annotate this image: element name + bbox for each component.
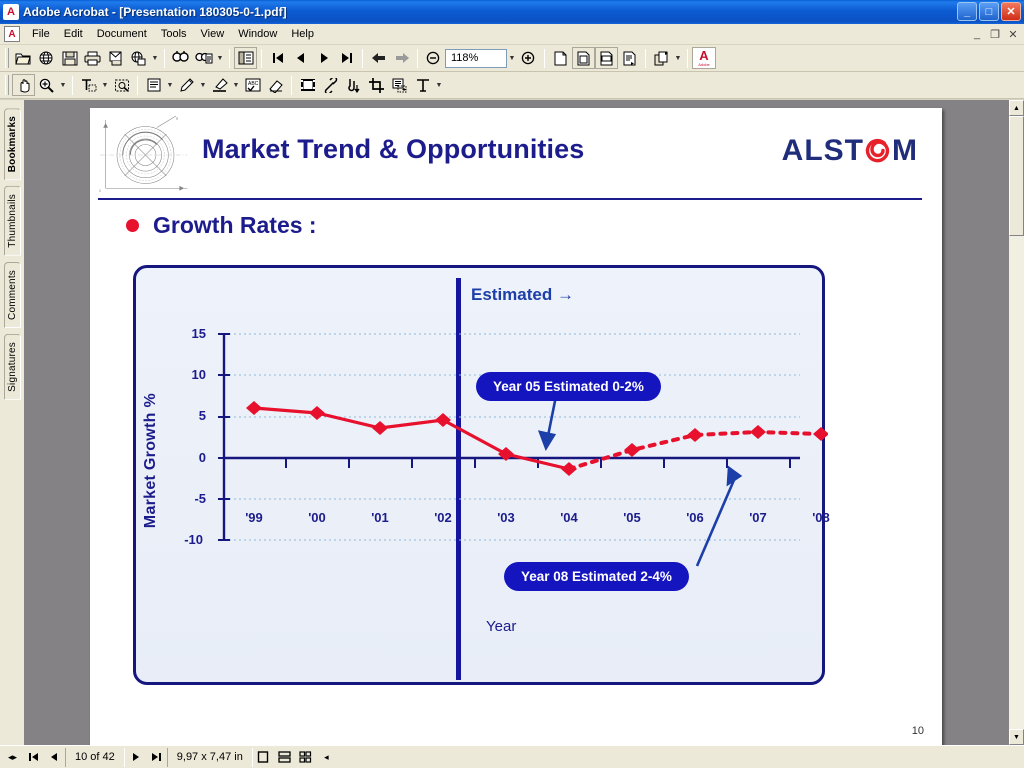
show-hide-navigation-icon[interactable] <box>234 47 257 69</box>
scroll-thumb[interactable] <box>1009 116 1024 236</box>
open-icon[interactable] <box>12 47 35 69</box>
acrobat-icon: A <box>3 4 19 20</box>
previous-page-icon[interactable] <box>44 748 65 767</box>
scroll-track[interactable] <box>1009 236 1024 729</box>
reflow-icon[interactable] <box>618 47 641 69</box>
previous-page-icon[interactable] <box>289 47 312 69</box>
scroll-down-button[interactable]: ▼ <box>1009 729 1024 745</box>
chevron-down-icon[interactable]: ▼ <box>198 82 208 89</box>
movie-tool-icon[interactable] <box>296 74 319 96</box>
first-page-icon[interactable] <box>266 47 289 69</box>
chevron-down-icon[interactable]: ▼ <box>673 55 683 62</box>
link-tool-icon[interactable] <box>319 74 342 96</box>
sidebar-item-thumbnails[interactable]: Thumbnails <box>4 186 21 256</box>
toolbar-separator <box>645 49 646 68</box>
zoom-out-icon[interactable] <box>422 47 445 69</box>
vertical-scrollbar[interactable]: ▲ ▼ <box>1008 100 1024 745</box>
toolbar-separator <box>261 49 262 68</box>
facing-pages-icon[interactable] <box>295 748 316 767</box>
minimize-button[interactable]: _ <box>957 2 977 21</box>
mdi-close-button[interactable]: ✕ <box>1006 28 1020 41</box>
navigation-pane: Bookmarks Thumbnails Comments Signatures <box>0 100 25 745</box>
graphics-select-icon[interactable] <box>110 74 133 96</box>
bullet-label: Growth Rates : <box>153 212 317 239</box>
sound-tool-icon[interactable] <box>342 74 365 96</box>
chevron-down-icon[interactable]: ▼ <box>58 82 68 89</box>
main-area: Bookmarks Thumbnails Comments Signatures <box>0 100 1024 745</box>
go-back-icon[interactable] <box>367 47 390 69</box>
pdf-page: 0 R Market Trend & Opportunities ALST M <box>90 108 942 745</box>
go-forward-icon[interactable] <box>390 47 413 69</box>
document-icon: A <box>4 26 20 42</box>
resize-pane-handle[interactable]: ◂▸ <box>2 748 23 767</box>
callout-year-05: Year 05 Estimated 0-2% <box>476 372 661 401</box>
mdi-restore-button[interactable]: ❐ <box>988 28 1002 41</box>
rotate-view-icon[interactable] <box>650 47 673 69</box>
document-area[interactable]: 0 R Market Trend & Opportunities ALST M <box>25 100 1008 745</box>
page-indicator[interactable]: 10 of 42 <box>65 748 125 767</box>
alstom-spiral-icon <box>864 136 892 166</box>
horizontal-scroll-left-button[interactable]: ◂ <box>316 748 337 767</box>
window-controls: _ □ ✕ <box>957 2 1021 21</box>
zoom-tool-icon[interactable] <box>35 74 58 96</box>
save-icon[interactable] <box>58 47 81 69</box>
chevron-down-icon[interactable]: ▼ <box>100 82 110 89</box>
fit-page-icon[interactable] <box>572 47 595 69</box>
chevron-down-icon[interactable]: ▼ <box>215 55 225 62</box>
toolbar-separator <box>229 49 230 68</box>
fit-width-icon[interactable] <box>595 47 618 69</box>
email-icon[interactable] <box>104 47 127 69</box>
alstom-logo: ALST M <box>782 134 918 168</box>
print-icon[interactable] <box>81 47 104 69</box>
first-page-icon[interactable] <box>23 748 44 767</box>
page-navigation-group <box>23 748 65 767</box>
menu-bar: A File Edit Document Tools View Window H… <box>0 24 1024 45</box>
window-title-bar: A Adobe Acrobat - [Presentation 180305-0… <box>0 0 1024 24</box>
window-title: Adobe Acrobat - [Presentation 180305-0-1… <box>23 5 287 19</box>
chart-panel: Estimated → Market Growth % 15 10 5 0 -5… <box>133 265 825 685</box>
highlight-tool-icon[interactable] <box>208 74 231 96</box>
next-page-icon[interactable] <box>312 47 335 69</box>
mdi-window-controls: _ ❐ ✕ <box>970 28 1020 41</box>
last-page-icon[interactable] <box>146 748 167 767</box>
growth-rate-line-chart <box>136 268 828 688</box>
eraser-icon[interactable] <box>264 74 287 96</box>
search-web-icon[interactable] <box>127 47 150 69</box>
crop-tool-icon[interactable] <box>365 74 388 96</box>
last-page-icon[interactable] <box>335 47 358 69</box>
zoom-in-icon[interactable] <box>517 47 540 69</box>
single-page-icon[interactable] <box>253 748 274 767</box>
page-size-indicator: 9,97 x 7,47 in <box>167 748 253 767</box>
view-mode-group <box>253 748 316 767</box>
toolbar-separator <box>72 76 73 95</box>
spell-check-icon[interactable]: ABC <box>241 74 264 96</box>
search-icon[interactable] <box>192 47 215 69</box>
mdi-minimize-button[interactable]: _ <box>970 28 984 40</box>
scroll-up-button[interactable]: ▲ <box>1009 100 1024 116</box>
callout-year-08: Year 08 Estimated 2-4% <box>504 562 689 591</box>
acrobat-online-icon[interactable]: AAdobe <box>692 47 716 69</box>
toolbar-separator <box>417 49 418 68</box>
menu-item-tools[interactable]: Tools <box>154 26 194 42</box>
toolbar-separator <box>291 76 292 95</box>
text-select-icon[interactable] <box>77 74 100 96</box>
menu-item-view[interactable]: View <box>194 26 232 42</box>
chevron-down-icon[interactable]: ▼ <box>507 55 517 62</box>
pencil-tool-icon[interactable] <box>175 74 198 96</box>
sidebar-item-signatures[interactable]: Signatures <box>4 334 21 400</box>
svg-text:0: 0 <box>99 189 101 193</box>
menu-item-document[interactable]: Document <box>90 26 154 42</box>
article-tool-icon[interactable] <box>388 74 411 96</box>
toolbar-separator <box>164 49 165 68</box>
chevron-down-icon[interactable]: ▼ <box>231 82 241 89</box>
svg-text:R: R <box>176 117 179 121</box>
next-page-icon[interactable] <box>125 748 146 767</box>
alstom-logo-after: M <box>892 134 918 168</box>
menu-item-window[interactable]: Window <box>231 26 284 42</box>
toolbar-separator <box>687 49 688 68</box>
toolbar-separator <box>137 76 138 95</box>
slide-page-number: 10 <box>912 725 924 737</box>
menu-item-help[interactable]: Help <box>284 26 321 42</box>
form-tool-icon[interactable] <box>411 74 434 96</box>
toolbar-grip[interactable] <box>5 75 9 95</box>
continuous-icon[interactable] <box>274 748 295 767</box>
page-navigation-group-right <box>125 748 167 767</box>
bullet-dot-icon <box>126 219 139 232</box>
secondary-toolbar: ▼ ▼ ▼ ▼ ▼ ABC ▼ <box>0 72 1024 99</box>
menu-item-edit[interactable]: Edit <box>57 26 90 42</box>
actual-size-icon[interactable] <box>549 47 572 69</box>
main-toolbar: ▼ ▼ 118% ▼ <box>0 45 1024 72</box>
save-as-web-icon[interactable] <box>35 47 58 69</box>
toolbar-grip[interactable] <box>5 48 9 68</box>
note-tool-icon[interactable] <box>142 74 165 96</box>
zoom-level-input[interactable]: 118% <box>445 49 507 68</box>
technical-drawing-watermark: 0 R <box>98 114 193 196</box>
slide-header: 0 R Market Trend & Opportunities ALST M <box>90 108 942 198</box>
chevron-down-icon[interactable]: ▼ <box>150 55 160 62</box>
maximize-button[interactable]: □ <box>979 2 999 21</box>
page-title: Market Trend & Opportunities <box>202 134 584 165</box>
chevron-down-icon[interactable]: ▼ <box>165 82 175 89</box>
toolbar-separator <box>362 49 363 68</box>
header-rule <box>98 198 922 200</box>
hand-tool-icon[interactable] <box>12 74 35 96</box>
find-icon[interactable] <box>169 47 192 69</box>
alstom-logo-before: ALST <box>782 134 864 168</box>
x-axis-label: Year <box>486 618 516 635</box>
menu-item-file[interactable]: File <box>25 26 57 42</box>
sidebar-item-comments[interactable]: Comments <box>4 262 21 328</box>
status-bar: ◂▸ 10 of 42 9,97 x 7,47 in ◂ <box>0 745 1024 768</box>
chevron-down-icon[interactable]: ▼ <box>434 82 444 89</box>
sidebar-item-bookmarks[interactable]: Bookmarks <box>4 108 21 180</box>
toolbar-separator <box>544 49 545 68</box>
growth-rates-bullet: Growth Rates : <box>126 212 317 239</box>
close-button[interactable]: ✕ <box>1001 2 1021 21</box>
